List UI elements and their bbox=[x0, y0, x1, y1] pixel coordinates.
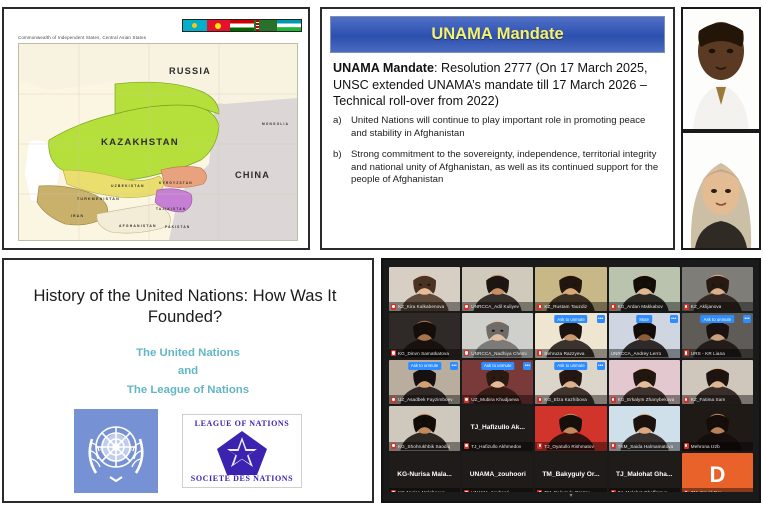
microphone-muted-icon bbox=[391, 397, 396, 403]
participant-tile[interactable]: KG_Ardan Makkabov bbox=[609, 267, 680, 311]
history-subtitle-line-2: The League of Nations bbox=[4, 381, 372, 399]
more-options-icon[interactable]: ••• bbox=[597, 362, 605, 370]
participant-name-large: TM_Bakyguly Or... bbox=[535, 471, 606, 478]
microphone-muted-icon bbox=[537, 443, 542, 449]
unama-lead-paragraph: UNAMA Mandate: Resolution 2777 (On 17 Ma… bbox=[333, 60, 664, 110]
portrait-tile-1[interactable] bbox=[681, 7, 761, 131]
participant-name-bar: KG_Dinvn Samatkatova bbox=[389, 349, 460, 358]
participant-name-bar: TJ_Oyatullo Rishmatov bbox=[535, 442, 606, 451]
participant-tile[interactable]: KG-Nurisa Mala...KG-Nurisa Molobaeva bbox=[389, 453, 460, 497]
participant-name-bar: KZ_Fatima Sam bbox=[682, 395, 753, 404]
participant-name: KG_Elza Kazhibova bbox=[544, 397, 587, 402]
participant-tile[interactable]: TKM_Saida Halmamatova bbox=[609, 406, 680, 450]
map-label-uzbekistan: UZBEKISTAN bbox=[111, 184, 145, 188]
bullet-text: Strong commitment to the sovereignty, in… bbox=[351, 149, 664, 186]
participant-name-bar: URS - KR Liana bbox=[682, 349, 753, 358]
participant-tile[interactable]: Ask to unmute•••Behruza Razzyeva bbox=[535, 313, 606, 357]
unama-bullet-a: a)United Nations will continue to play i… bbox=[333, 115, 664, 140]
participant-name-bar: UZ_Mubira Khudjaeva bbox=[462, 395, 533, 404]
participant-name-bar: KZ_Rustam Tauzdiz bbox=[535, 302, 606, 311]
unama-bullet-b: b)Strong commitment to the sovereignty, … bbox=[333, 149, 664, 186]
participant-tile[interactable]: UNRCCA_Nadhiya Chemi bbox=[462, 313, 533, 357]
participant-tile[interactable]: KG_Erkalym Zhanybekova bbox=[609, 360, 680, 404]
participant-tile[interactable]: KG_Shohrukhbik Saodiq bbox=[389, 406, 460, 450]
unama-title-bar: UNAMA Mandate bbox=[330, 16, 665, 53]
participant-name: TJ_Oyatullo Rishmatov bbox=[544, 444, 594, 449]
zoom-gallery-footer: ▾ bbox=[383, 492, 759, 501]
microphone-muted-icon bbox=[464, 350, 469, 356]
participant-name-bar: UNRCCA_Adil Kuliyev bbox=[462, 302, 533, 311]
participant-name: KZ_Fatima Sam bbox=[691, 397, 726, 402]
map-slide-panel: Commonwealth of Independent States, Cent… bbox=[2, 7, 310, 250]
microphone-muted-icon bbox=[391, 443, 396, 449]
turkmenistan-flag-icon bbox=[254, 20, 278, 31]
screen-root: Commonwealth of Independent States, Cent… bbox=[0, 0, 763, 509]
participant-tile[interactable]: KZ_Kira Kalkabenova bbox=[389, 267, 460, 311]
avatar-initial: D bbox=[709, 462, 725, 488]
map-label-china: CHINA bbox=[235, 170, 270, 180]
participant-tile[interactable]: TJ_Malohat Gha...TJ_Malohat Ghafforova bbox=[609, 453, 680, 497]
participant-name: UNRCCA_Andrey Lerro bbox=[611, 351, 662, 356]
participant-name: TKM_Saida Halmamatova bbox=[618, 444, 674, 449]
microphone-muted-icon bbox=[611, 397, 616, 403]
microphone-muted-icon bbox=[611, 304, 616, 310]
more-options-icon[interactable]: ••• bbox=[450, 362, 458, 370]
participant-tile[interactable]: Ask to unmute•••KG_Elza Kazhibova bbox=[535, 360, 606, 404]
microphone-muted-icon bbox=[684, 350, 689, 356]
united-nations-emblem-icon bbox=[74, 409, 158, 493]
participant-tile[interactable]: DTM_David Dov bbox=[682, 453, 753, 497]
participant-tile[interactable]: KZ_Aklijanova bbox=[682, 267, 753, 311]
participant-name: UZ_Mubira Khudjaeva bbox=[471, 397, 519, 402]
ask-to-unmute-button[interactable]: Ask to unmute bbox=[554, 315, 587, 323]
mute-button[interactable]: Mute bbox=[636, 315, 652, 323]
participant-name: KZ_Aklijanova bbox=[691, 304, 722, 309]
portrait-tile-2[interactable] bbox=[681, 131, 761, 250]
microphone-muted-icon bbox=[537, 304, 542, 310]
map-label-pakistan: PAKISTAN bbox=[165, 225, 190, 229]
participant-name: UNRCCA_Nadhiya Chemi bbox=[471, 351, 527, 356]
history-subtitle-line-0: The United Nations bbox=[4, 344, 372, 362]
map-label-turkmenistan: TURKMENISTAN bbox=[77, 197, 120, 201]
bullet-marker: a) bbox=[333, 115, 344, 140]
chevron-down-icon[interactable]: ▾ bbox=[569, 492, 572, 499]
microphone-muted-icon bbox=[537, 397, 542, 403]
participant-name-bar: KG_Ardan Makkabov bbox=[609, 302, 680, 311]
map-label-tajikistan: TAJIKISTAN bbox=[156, 207, 186, 211]
history-slide-logos: LEAGUE OF NATIONS SOCIETE DES NATIONS bbox=[4, 409, 372, 493]
participant-tile[interactable]: Mehrona Izzb bbox=[682, 406, 753, 450]
central-asia-map: RUSSIAKAZAKHSTANCHINAMONGOLIAUZBEKISTANK… bbox=[18, 43, 298, 241]
participant-tile[interactable]: TM_Bakyguly Or...TM_Bakyguly Orazov bbox=[535, 453, 606, 497]
unama-mandate-slide: UNAMA Mandate UNAMA Mandate: Resolution … bbox=[320, 7, 675, 250]
participant-name: KG_Erkalym Zhanybekova bbox=[618, 397, 675, 402]
participant-name-bar: KG_Shohrukhbik Saodiq bbox=[389, 442, 460, 451]
participant-name-bar: Mehrona Izzb bbox=[682, 442, 753, 451]
participant-name: KZ_Kira Kalkabenova bbox=[398, 304, 444, 309]
central-asia-flags bbox=[182, 19, 302, 32]
participant-name-large: UNAMA_zouhoori bbox=[462, 471, 533, 478]
microphone-muted-icon bbox=[464, 443, 469, 449]
participant-name: URS - KR Liana bbox=[691, 351, 725, 356]
kazakhstan-flag-icon bbox=[183, 20, 207, 31]
unama-body: UNAMA Mandate: Resolution 2777 (On 17 Ma… bbox=[322, 53, 673, 187]
microphone-muted-icon bbox=[537, 350, 542, 356]
participant-name-large: TJ_Malohat Gha... bbox=[609, 471, 680, 478]
participant-name-bar: Behruza Razzyeva bbox=[535, 349, 606, 358]
zoom-meeting-gallery: KZ_Kira KalkabenovaUNRCCA_Adil KuliyevKZ… bbox=[381, 258, 761, 503]
history-subtitle-line-1: and bbox=[4, 362, 372, 380]
portrait-video-column bbox=[681, 7, 761, 250]
portrait-person-1 bbox=[683, 9, 759, 129]
participant-name-bar: TJ_Hafizullo Akhmedov bbox=[462, 442, 533, 451]
participant-name-bar: KZ_Aklijanova bbox=[682, 302, 753, 311]
map-label-russia: RUSSIA bbox=[169, 66, 211, 76]
map-label-afghanistan: AFGHANISTAN bbox=[119, 224, 157, 228]
participant-tile[interactable]: Ask to unmute•••UZ_Mubira Khudjaeva bbox=[462, 360, 533, 404]
unama-lead-label: UNAMA Mandate bbox=[333, 61, 434, 75]
participant-tile[interactable]: KG_Dinvn Samatkatova bbox=[389, 313, 460, 357]
zoom-participant-grid: KZ_Kira KalkabenovaUNRCCA_Adil KuliyevKZ… bbox=[389, 267, 753, 497]
bullet-marker: b) bbox=[333, 149, 344, 186]
map-label-kyrgyzstan: KYRGYZSTAN bbox=[159, 181, 193, 185]
participant-tile[interactable]: Mute•••UNRCCA_Andrey Lerro bbox=[609, 313, 680, 357]
participant-name: Mehrona Izzb bbox=[691, 444, 720, 449]
participant-name: KG_Dinvn Samatkatova bbox=[398, 351, 449, 356]
map-label-mongolia: MONGOLIA bbox=[262, 122, 289, 126]
uzbekistan-flag-icon bbox=[277, 20, 301, 31]
map-label-kazakhstan: KAZAKHSTAN bbox=[101, 137, 179, 148]
portrait-person-2 bbox=[683, 133, 759, 248]
more-options-icon[interactable]: ••• bbox=[670, 315, 678, 323]
participant-name: UZ_Asadbek Fayzimboev bbox=[398, 397, 453, 402]
bullet-text: United Nations will continue to play imp… bbox=[351, 115, 664, 140]
participant-name: KG_Ardan Makkabov bbox=[618, 304, 663, 309]
participant-tile[interactable]: UNRCCA_Adil Kuliyev bbox=[462, 267, 533, 311]
participant-tile[interactable]: Ask to unmute•••URS - KR Liana bbox=[682, 313, 753, 357]
map-slide-content: Commonwealth of Independent States, Cent… bbox=[4, 9, 308, 248]
history-slide-subtitle: The United NationsandThe League of Natio… bbox=[4, 344, 372, 399]
unama-bullet-list: a)United Nations will continue to play i… bbox=[333, 115, 664, 186]
ask-to-unmute-button[interactable]: Ask to unmute bbox=[481, 362, 514, 370]
participant-name: Behruza Razzyeva bbox=[544, 351, 584, 356]
participant-name-bar: UNRCCA_Andrey Lerro bbox=[609, 349, 680, 358]
participant-tile[interactable]: TJ_Hafizullo Ak...TJ_Hafizullo Akhmedov bbox=[462, 406, 533, 450]
participant-name-bar: UZ_Asadbek Fayzimboev bbox=[389, 395, 460, 404]
microphone-muted-icon bbox=[464, 397, 469, 403]
ask-to-unmute-button[interactable]: Ask to unmute bbox=[701, 315, 734, 323]
participant-name: UNRCCA_Adil Kuliyev bbox=[471, 304, 519, 309]
kyrgyzstan-flag-icon bbox=[207, 20, 231, 31]
participant-name: TJ_Hafizullo Akhmedov bbox=[471, 444, 521, 449]
participant-tile[interactable]: Ask to unmute•••UZ_Asadbek Fayzimboev bbox=[389, 360, 460, 404]
participant-tile[interactable]: UNAMA_zouhooriUNAMA_zouhoori bbox=[462, 453, 533, 497]
league-bottom-text: SOCIETE DES NATIONS bbox=[183, 474, 301, 483]
microphone-muted-icon bbox=[391, 304, 396, 310]
microphone-muted-icon bbox=[684, 304, 689, 310]
participant-tile[interactable]: KZ_Fatima Sam bbox=[682, 360, 753, 404]
participant-name-large: KG-Nurisa Mala... bbox=[389, 471, 460, 478]
league-of-nations-emblem-icon: LEAGUE OF NATIONS SOCIETE DES NATIONS bbox=[182, 414, 302, 488]
map-label-iran: IRAN bbox=[71, 214, 84, 218]
participant-name-large: TJ_Hafizullo Ak... bbox=[462, 424, 533, 431]
ask-to-unmute-button[interactable]: Ask to unmute bbox=[554, 362, 587, 370]
participant-name-bar: KG_Elza Kazhibova bbox=[535, 395, 606, 404]
microphone-muted-icon bbox=[611, 443, 616, 449]
microphone-muted-icon bbox=[391, 350, 396, 356]
un-history-slide: History of the United Nations: How Was I… bbox=[2, 258, 374, 503]
participant-tile[interactable]: KZ_Rustam Tauzdiz bbox=[535, 267, 606, 311]
unama-title: UNAMA Mandate bbox=[431, 25, 563, 44]
microphone-muted-icon bbox=[684, 397, 689, 403]
more-options-icon[interactable]: ••• bbox=[743, 315, 751, 323]
participant-name: KZ_Rustam Tauzdiz bbox=[544, 304, 587, 309]
participant-name-bar: KZ_Kira Kalkabenova bbox=[389, 302, 460, 311]
participant-name: KG_Shohrukhbik Saodiq bbox=[398, 444, 450, 449]
tajikistan-flag-icon bbox=[230, 20, 254, 31]
more-options-icon[interactable]: ••• bbox=[597, 315, 605, 323]
participant-name-bar: TKM_Saida Halmamatova bbox=[609, 442, 680, 451]
zoom-gallery-inner: KZ_Kira KalkabenovaUNRCCA_Adil KuliyevKZ… bbox=[383, 260, 759, 501]
participant-tile[interactable]: TJ_Oyatullo Rishmatov bbox=[535, 406, 606, 450]
participant-name-bar: UNRCCA_Nadhiya Chemi bbox=[462, 349, 533, 358]
microphone-muted-icon bbox=[464, 304, 469, 310]
more-options-icon[interactable]: ••• bbox=[523, 362, 531, 370]
microphone-muted-icon bbox=[684, 443, 689, 449]
history-slide-title: History of the United Nations: How Was I… bbox=[18, 286, 352, 328]
participant-name-bar: KG_Erkalym Zhanybekova bbox=[609, 395, 680, 404]
ask-to-unmute-button[interactable]: Ask to unmute bbox=[408, 362, 441, 370]
map-caption: Commonwealth of Independent States, Cent… bbox=[18, 35, 146, 40]
